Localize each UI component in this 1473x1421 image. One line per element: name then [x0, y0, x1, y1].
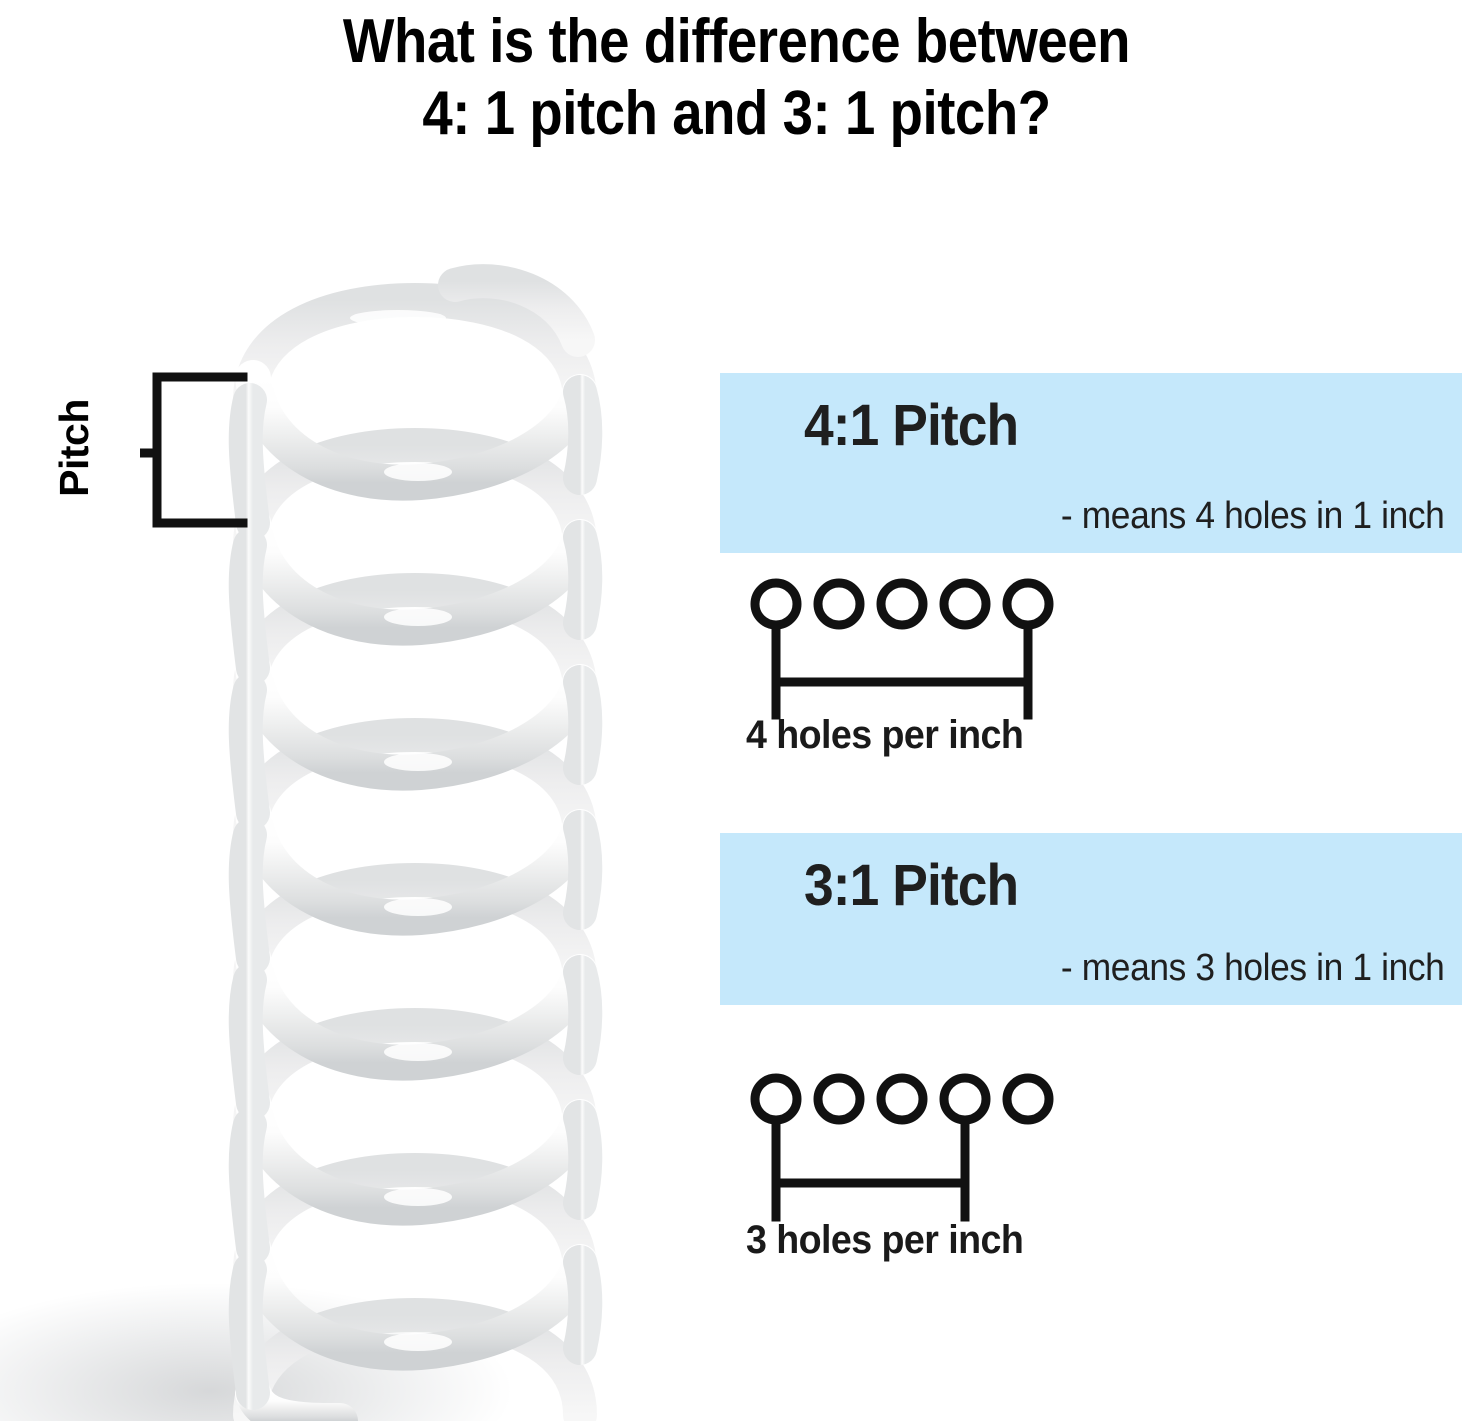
hole-circle [1007, 1078, 1049, 1120]
banner-subtitle-4-to-1: - means 4 holes in 1 inch [1060, 495, 1444, 537]
hole-circle [881, 1078, 923, 1120]
hole-circle [881, 583, 923, 625]
spring-photo [0, 0, 700, 1421]
hole-circle [818, 1078, 860, 1120]
hole-circle [944, 1078, 986, 1120]
pitch-bracket [140, 365, 260, 540]
banner-4-to-1: 4:1 Pitch - means 4 holes in 1 inch [720, 373, 1462, 553]
holes-diagram-3-per-inch [740, 1065, 1070, 1225]
hole-circle [818, 583, 860, 625]
holes-diagram-4-per-inch [740, 570, 1070, 720]
pitch-label: Pitch [52, 378, 96, 518]
hole-circle [755, 1078, 797, 1120]
banner-subtitle-3-to-1: - means 3 holes in 1 inch [1060, 947, 1444, 989]
banner-title-4-to-1: 4:1 Pitch [804, 395, 1018, 457]
holes-caption-4-per-inch: 4 holes per inch [746, 713, 1023, 757]
spiral-coil-illustration [0, 0, 700, 1421]
banner-title-3-to-1: 3:1 Pitch [804, 855, 1018, 917]
banner-3-to-1: 3:1 Pitch - means 3 holes in 1 inch [720, 833, 1462, 1005]
hole-circle [944, 583, 986, 625]
hole-circle [755, 583, 797, 625]
infographic-page: What is the difference between 4: 1 pitc… [0, 0, 1473, 1421]
hole-circle [1007, 583, 1049, 625]
holes-caption-3-per-inch: 3 holes per inch [746, 1218, 1023, 1262]
